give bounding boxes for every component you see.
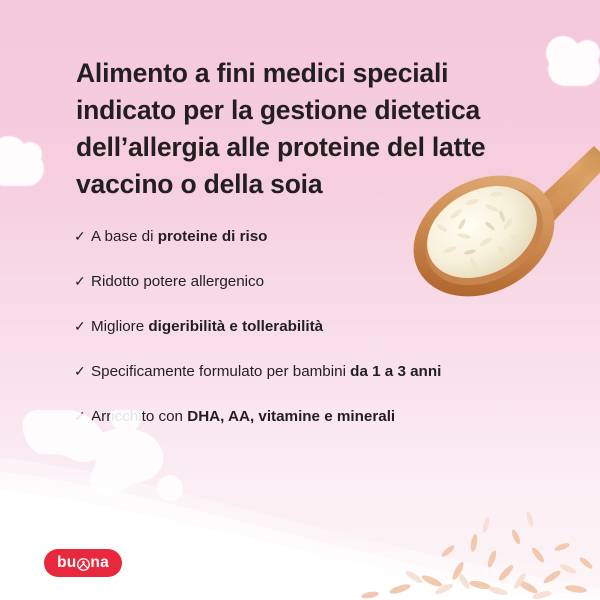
check-icon: ✓ [74, 274, 91, 288]
benefit-text: Ridotto potere allergenico [91, 273, 264, 290]
benefit-text: A base di proteine di riso [91, 228, 267, 245]
logo-text-before: bu [57, 555, 76, 571]
logo-person-mark-icon [77, 558, 90, 571]
scattered-rice-grains-image [340, 485, 600, 600]
list-item: ✓ Specificamente formulato per bambini d… [74, 363, 544, 408]
benefit-text: Migliore digeribilità e tollerabilità [91, 318, 323, 335]
logo-wordmark: bu na [57, 555, 109, 571]
list-item: ✓ Ridotto potere allergenico [74, 273, 544, 318]
check-icon: ✓ [74, 364, 91, 378]
list-item: ✓ Arricchito con DHA, AA, vitamine e min… [74, 408, 544, 453]
logo-text-after: na [90, 555, 109, 571]
check-icon: ✓ [74, 319, 91, 333]
poster-canvas: Alimento a fini medici speciali indicato… [0, 0, 600, 600]
benefit-text: Specificamente formulato per bambini da … [91, 363, 441, 380]
list-item: ✓ A base di proteine di riso [74, 228, 544, 273]
cloud-left-icon [0, 152, 44, 186]
list-item: ✓ Migliore digeribilità e tollerabilità [74, 318, 544, 363]
benefits-list: ✓ A base di proteine di riso ✓ Ridotto p… [74, 228, 544, 453]
check-icon: ✓ [74, 409, 91, 423]
brand-logo[interactable]: bu na [44, 549, 122, 577]
check-icon: ✓ [74, 229, 91, 243]
page-title: Alimento a fini medici speciali indicato… [76, 55, 526, 203]
benefit-text: Arricchito con DHA, AA, vitamine e miner… [91, 408, 395, 425]
cloud-top-right-icon [548, 52, 600, 86]
